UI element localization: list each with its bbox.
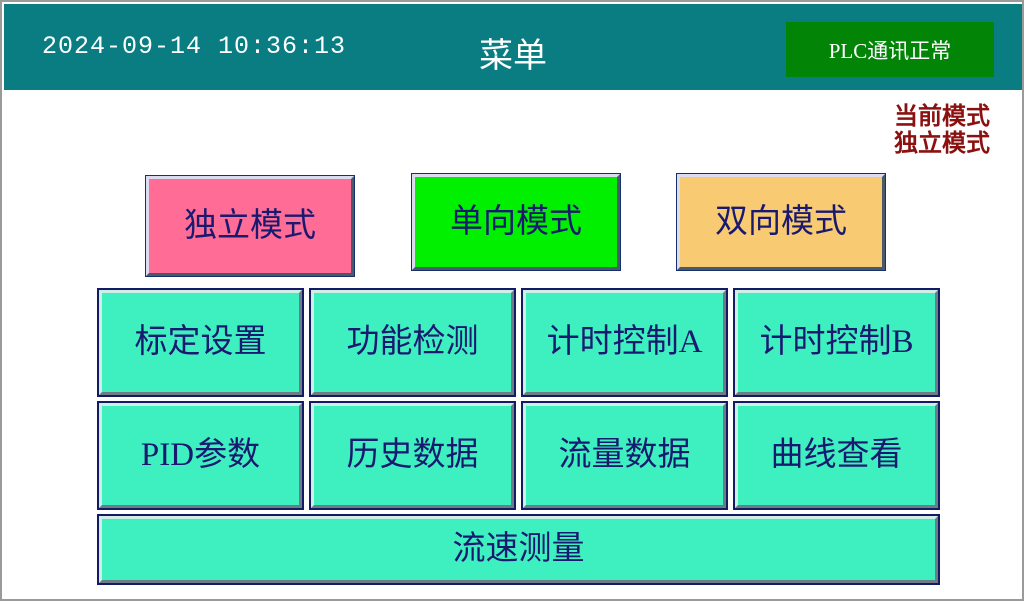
function-button-curve-view[interactable]: 曲线查看 [735,403,938,508]
current-mode-value: 独立模式 [894,131,990,158]
mode-button-oneway[interactable]: 单向模式 [412,174,620,270]
mode-button-independent[interactable]: 独立模式 [146,176,354,276]
function-button-flow-data[interactable]: 流量数据 [523,403,726,508]
function-button-history-data[interactable]: 历史数据 [311,403,514,508]
hmi-screen: 2024-09-14 10:36:13 菜单 PLC通讯正常 当前模式 独立模式… [0,0,1024,601]
function-button-calibration-settings[interactable]: 标定设置 [99,290,302,395]
main-content: 当前模式 独立模式 独立模式 单向模式 双向模式 标定设置 功能检测 计时控制A… [4,90,1022,599]
plc-status-badge: PLC通讯正常 [786,22,994,77]
header-bar: 2024-09-14 10:36:13 菜单 PLC通讯正常 [4,4,1022,90]
mode-button-twoway[interactable]: 双向模式 [677,174,885,270]
function-button-pid-parameters[interactable]: PID参数 [99,403,302,508]
current-mode-label: 当前模式 [894,104,990,131]
current-mode-indicator: 当前模式 独立模式 [894,104,990,158]
function-button-flow-velocity-measurement[interactable]: 流速测量 [99,516,938,583]
function-button-timer-control-b[interactable]: 计时控制B [735,290,938,395]
function-button-function-test[interactable]: 功能检测 [311,290,514,395]
function-button-timer-control-a[interactable]: 计时控制A [523,290,726,395]
